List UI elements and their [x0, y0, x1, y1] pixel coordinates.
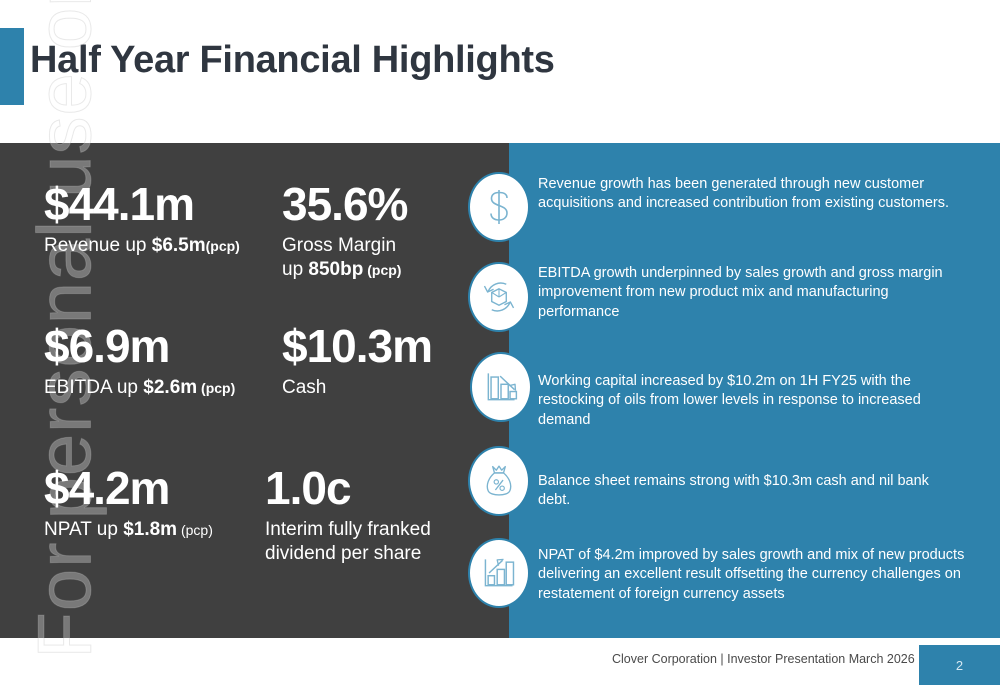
bar-chart-down-icon: [470, 352, 532, 422]
commentary-text-4: Balance sheet remains strong with $10.3m…: [538, 472, 963, 511]
commentary-list: Revenue growth has been generated throug…: [0, 143, 1000, 638]
commentary-text-1: Revenue growth has been generated throug…: [538, 175, 958, 214]
commentary-text-5: NPAT of $4.2m improved by sales growth a…: [538, 546, 966, 604]
footer-caption: Clover Corporation | Investor Presentati…: [612, 652, 915, 666]
slide-root: Half Year Financial Highlights For perso…: [0, 0, 1000, 685]
page-number-badge: 2: [919, 645, 1000, 685]
page-title: Half Year Financial Highlights: [30, 39, 555, 82]
bar-chart-up-icon: [468, 538, 530, 608]
dollar-sign-icon: [468, 172, 530, 242]
product-cycle-icon: [468, 262, 530, 332]
money-bag-percent-icon: [468, 446, 530, 516]
title-accent-bar: [0, 28, 24, 105]
commentary-text-2: EBITDA growth underpinned by sales growt…: [538, 264, 943, 322]
commentary-text-3: Working capital increased by $10.2m on 1…: [538, 372, 963, 430]
